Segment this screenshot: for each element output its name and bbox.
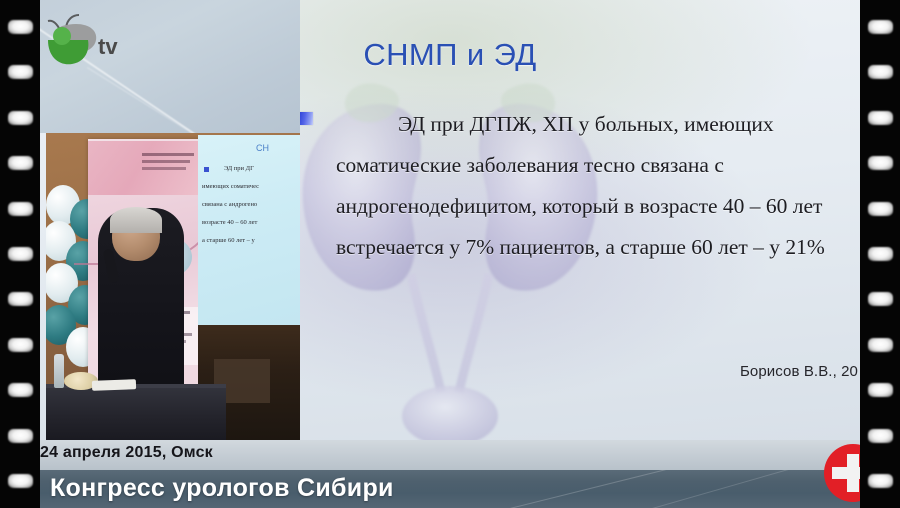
sprocket-hole bbox=[8, 202, 33, 216]
sprocket-hole bbox=[8, 111, 33, 125]
date-location-text: 24 апреля 2015, Омск bbox=[40, 444, 213, 462]
mini-slide-title: СН bbox=[256, 143, 269, 153]
banner-highlight-streak bbox=[338, 470, 746, 508]
film-strip-left bbox=[0, 0, 40, 508]
speaker-hair bbox=[110, 207, 162, 233]
beetle-tv-logo-icon: tv bbox=[40, 12, 130, 74]
film-strip-right bbox=[860, 0, 900, 508]
tv-logo-text: tv bbox=[98, 34, 118, 59]
mini-slide-line: а старше 60 лет – у bbox=[202, 237, 255, 244]
event-title-text: Конгресс урологов Сибири bbox=[50, 474, 394, 503]
mini-slide-line: имеющих соматичес bbox=[202, 183, 259, 190]
sprocket-hole bbox=[8, 156, 33, 170]
presentation-table bbox=[46, 388, 226, 440]
sprocket-hole bbox=[868, 338, 893, 352]
sprocket-hole bbox=[8, 383, 33, 397]
slide-body-text: ЭД при ДГПЖ, ХП у больных, имеющих сомат… bbox=[300, 104, 860, 268]
sprocket-hole bbox=[868, 474, 893, 488]
sprocket-hole bbox=[868, 111, 893, 125]
mini-slide-bullet-icon bbox=[204, 167, 209, 172]
mini-slide-line: возрасте 40 – 60 лет bbox=[202, 219, 257, 226]
mini-slide-line: связана с андрогено bbox=[202, 201, 257, 208]
projection-screen: СН ЭД при ДГ имеющих соматичес связана с… bbox=[198, 135, 300, 325]
sprocket-hole bbox=[8, 247, 33, 261]
sprocket-hole bbox=[8, 474, 33, 488]
event-title-bar: Конгресс урологов Сибири bbox=[32, 470, 868, 508]
speaker-photo: СН ЭД при ДГ имеющих соматичес связана с… bbox=[46, 133, 300, 440]
sprocket-hole bbox=[868, 383, 893, 397]
date-bar: 24 апреля 2015, Омск bbox=[32, 440, 868, 470]
sprocket-hole bbox=[868, 65, 893, 79]
sprocket-hole bbox=[8, 338, 33, 352]
picture-in-picture-video[interactable]: tv bbox=[32, 0, 300, 440]
broadcast-canvas: СНМП и ЭД ЭД при ДГПЖ, ХП у больных, име… bbox=[32, 0, 868, 508]
papers-on-table bbox=[92, 379, 136, 391]
blue-square-bullet-icon bbox=[300, 112, 313, 125]
banner-highlight-streak-secondary bbox=[597, 470, 847, 508]
sprocket-hole bbox=[8, 292, 33, 306]
slide-body-block: ЭД при ДГПЖ, ХП у больных, имеющих сомат… bbox=[300, 104, 860, 268]
sprocket-hole bbox=[8, 65, 33, 79]
sprocket-hole bbox=[8, 429, 33, 443]
video-frame-stage: СНМП и ЭД ЭД при ДГПЖ, ХП у больных, име… bbox=[0, 0, 900, 508]
pip-upper-backdrop: tv bbox=[32, 0, 300, 133]
slide-citation: Борисов В.В., 20 bbox=[740, 363, 858, 380]
sprocket-hole bbox=[868, 202, 893, 216]
mini-slide-line: ЭД при ДГ bbox=[224, 165, 254, 172]
sprocket-hole bbox=[868, 20, 893, 34]
sprocket-hole bbox=[868, 429, 893, 443]
sprocket-hole bbox=[868, 292, 893, 306]
sprocket-hole bbox=[8, 20, 33, 34]
water-bottle bbox=[54, 354, 64, 388]
sprocket-hole bbox=[868, 247, 893, 261]
sprocket-hole bbox=[868, 156, 893, 170]
